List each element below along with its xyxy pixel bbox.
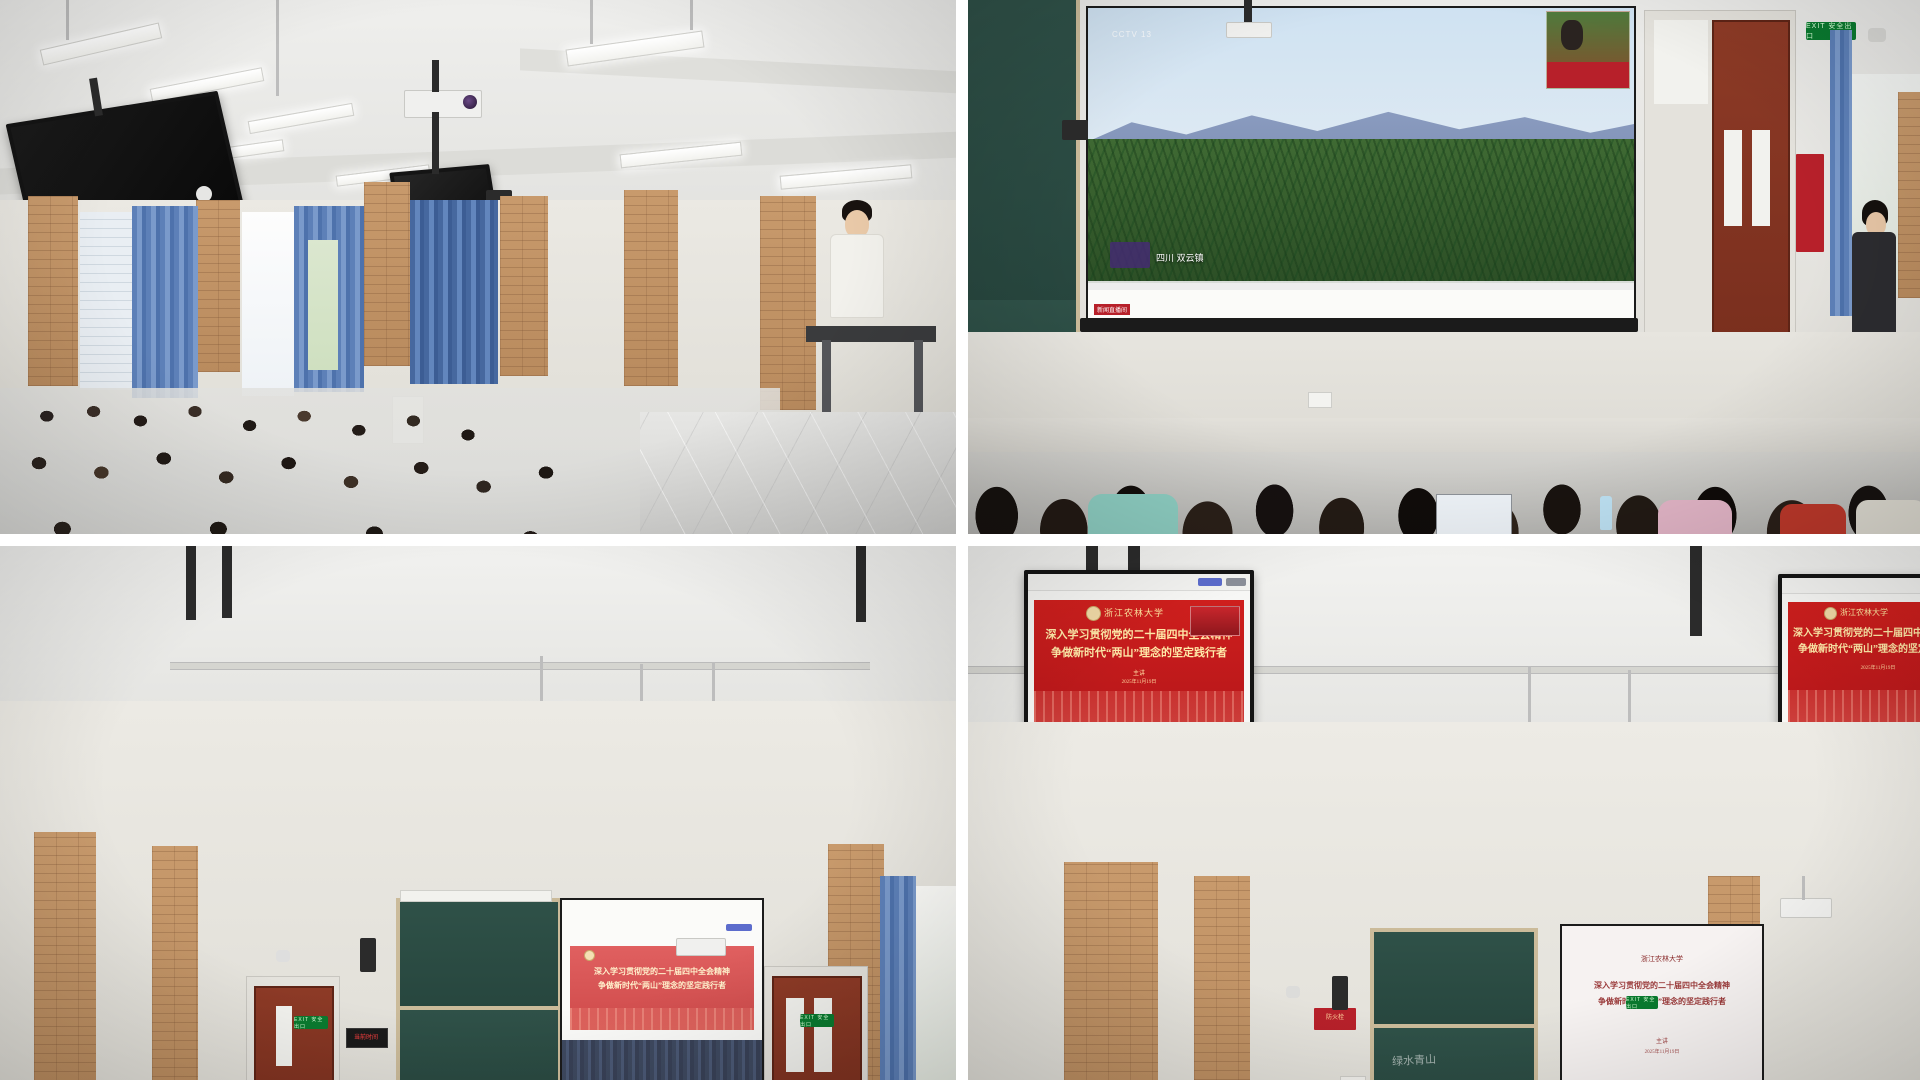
blackboard-note: 绿水青山 [1392, 1051, 1437, 1069]
door-upper-glass [1654, 20, 1708, 104]
blackboard-lower [396, 1006, 562, 1080]
projection-screen: 深入学习贯彻党的二十届四中全会精神 争做新时代“两山”理念的坚定践行者 [560, 898, 764, 1080]
security-camera [1286, 986, 1300, 998]
banner-speaker-label: 主讲 [1562, 1036, 1762, 1045]
slide-control-chip [726, 924, 752, 931]
tv-screen-right: 浙江农林大学 深入学习贯彻党的二十届四中全会精神 争做新时代“两山”理念的坚定践… [1782, 578, 1920, 746]
slide-control-chip [1226, 578, 1246, 586]
brick-column [152, 846, 198, 1080]
blackboard-upper [1370, 928, 1538, 1032]
door-window [1724, 130, 1742, 226]
location-caption: 四川 双云镇 [1156, 251, 1204, 264]
glass-block-window [80, 212, 132, 390]
banner-date: 2025年11月19日 [1788, 664, 1920, 671]
banner-line-2: 争做新时代“两山”理念的坚定践行者 [570, 980, 754, 991]
brick-column [500, 196, 548, 376]
banner-line-1: 深入学习贯彻党的二十届四中全会精神 [1788, 624, 1920, 639]
water-bottle [1600, 496, 1612, 530]
picture-in-picture [1546, 11, 1630, 89]
door-window [786, 998, 804, 1072]
light-hanger [276, 0, 279, 96]
banner-date: 2025年11月19日 [1562, 1048, 1762, 1055]
ceiling-projector [676, 938, 726, 956]
clock-digits: 当前时间 [348, 1032, 384, 1041]
banner-gate-graphic [570, 1008, 754, 1030]
wall-panel-box [1340, 1076, 1366, 1080]
location-badge [1110, 242, 1150, 268]
window [916, 886, 956, 1080]
brick-column [1194, 876, 1250, 1080]
banner-line-1: 深入学习贯彻党的二十届四中全会精神 [570, 966, 754, 977]
photo-bottom-right: 浙江农林大学 深入学习贯彻党的二十届四中全会精神 争做新时代“两山”理念的坚定践… [968, 546, 1920, 1080]
ceiling-rod [1690, 546, 1702, 636]
wall-speaker [360, 938, 376, 972]
banner-line-2: 争做新时代“两山”理念的坚定践行者 [1788, 640, 1920, 655]
banner-slide: 浙江农林大学 深入学习贯彻党的二十届四中全会精神 争做新时代“两山”理念的坚定践… [1788, 602, 1920, 724]
ceiling-pipe [170, 662, 870, 670]
photo-top-right: CCTV 13 四川 双云镇 新闻直播间 EXIT 安全出口 [968, 0, 1920, 534]
brick-column [1064, 862, 1158, 1080]
student-laptop [1436, 494, 1512, 534]
ceiling-rod [856, 546, 866, 622]
light-hanger [66, 0, 69, 40]
instructor-body [830, 234, 884, 318]
security-camera [276, 950, 290, 962]
photo-top-left [0, 0, 956, 534]
banner-line-2: 争做新时代“两山”理念的坚定践行者 [1562, 996, 1762, 1007]
ticker-bar [1088, 281, 1634, 290]
banner-slide: 深入学习贯彻党的二十届四中全会精神 争做新时代“两山”理念的坚定践行者 [570, 946, 754, 1030]
wall-speaker [1332, 976, 1348, 1010]
university-name: 浙江农林大学 [1104, 606, 1164, 619]
ceiling-rod [222, 546, 232, 618]
banner-speaker-label: 主讲 [1034, 668, 1244, 677]
wall-outlet [1308, 392, 1332, 408]
slide-toolbar [1782, 578, 1920, 594]
exit-sign: EXIT 安全出口 [294, 1016, 328, 1029]
standing-person [1848, 200, 1900, 350]
lectern-leg [914, 340, 923, 416]
collage-panel-bottom-right[interactable]: 浙江农林大学 深入学习贯彻党的二十届四中全会精神 争做新时代“两山”理念的坚定践… [962, 540, 1920, 1080]
photo-collage: CCTV 13 四川 双云镇 新闻直播间 EXIT 安全出口 [0, 0, 1920, 1080]
banner-line-1: 深入学习贯彻党的二十届四中全会精神 [1562, 980, 1762, 991]
window [308, 240, 338, 370]
exit-sign: EXIT 安全出口 [800, 1014, 834, 1027]
brick-column [760, 196, 816, 410]
window-curtain [880, 876, 916, 1080]
ceiling [0, 546, 956, 706]
brick-column [28, 196, 78, 386]
slide-audience-photo [562, 1040, 762, 1080]
university-emblem [584, 950, 595, 961]
tv-mount [432, 112, 439, 174]
projection-screen: CCTV 13 四川 双云镇 新闻直播间 [1086, 6, 1636, 322]
classroom-door [254, 986, 334, 1080]
slide-header: 浙江农林大学 [1562, 954, 1762, 964]
projection-screen: 浙江农林大学 深入学习贯彻党的二十届四中全会精神 争做新时代“两山”理念的坚定践… [1560, 924, 1764, 1080]
door-window [1752, 130, 1770, 226]
blackboard-upper [396, 898, 562, 1014]
window-curtain [132, 206, 198, 398]
university-name: 浙江农林大学 [1840, 607, 1888, 618]
channel-logo: CCTV 13 [1112, 30, 1152, 39]
fire-sign-text: 防火栓 [1316, 1012, 1354, 1021]
door-window [276, 1006, 292, 1066]
brick-wall-right [1898, 92, 1920, 298]
fire-notice-sign [1796, 154, 1824, 252]
person-body [1852, 232, 1896, 348]
banner-line-2: 争做新时代“两山”理念的坚定践行者 [1034, 644, 1244, 660]
university-emblem [1824, 607, 1837, 620]
audience-rear-view [968, 418, 1920, 534]
brick-column [34, 832, 96, 1080]
floor-tiles [640, 412, 956, 534]
slide-pip-photo [1190, 606, 1240, 636]
light-hanger [590, 0, 593, 44]
ceiling-projector [1226, 22, 1272, 38]
ceiling-projector [404, 90, 482, 118]
banner-gate-graphic [1788, 690, 1920, 724]
light-hanger [690, 0, 693, 30]
security-camera [1868, 28, 1886, 42]
photo-bottom-left: 浙江农林大学 深入学习贯彻党的二十届四中全会精神 争做新时代“两山”理念的坚定践… [0, 546, 956, 1080]
wall-speaker [1062, 120, 1088, 140]
door-window [814, 998, 832, 1072]
brick-column [196, 200, 240, 372]
university-emblem [1086, 606, 1101, 621]
ceiling-projector [1780, 898, 1832, 918]
broadcast-corner-logo: 新闻直播间 [1094, 304, 1130, 315]
collage-panel-top-left[interactable] [0, 0, 962, 540]
window-curtain [410, 200, 498, 384]
slide-control-chip [1198, 578, 1222, 586]
projector-mount [1802, 876, 1805, 900]
brick-column [364, 182, 410, 366]
collage-panel-top-right[interactable]: CCTV 13 四川 双云镇 新闻直播间 EXIT 安全出口 [962, 0, 1920, 540]
banner-date: 2025年11月19日 [1034, 678, 1244, 685]
screen-roller-case [1080, 318, 1638, 332]
projector-lens [463, 95, 477, 109]
exit-sign: EXIT 安全出口 [1626, 996, 1658, 1009]
blackboard-light [400, 890, 552, 902]
window [242, 212, 294, 396]
collage-panel-bottom-left[interactable]: 浙江农林大学 深入学习贯彻党的二十届四中全会精神 争做新时代“两山”理念的坚定践… [0, 540, 962, 1080]
brick-column [624, 190, 678, 386]
blackboard [968, 0, 1080, 304]
projector-mount [432, 60, 439, 92]
ceiling-rod [186, 546, 196, 620]
lectern-leg [822, 340, 831, 416]
instructor [828, 200, 884, 318]
